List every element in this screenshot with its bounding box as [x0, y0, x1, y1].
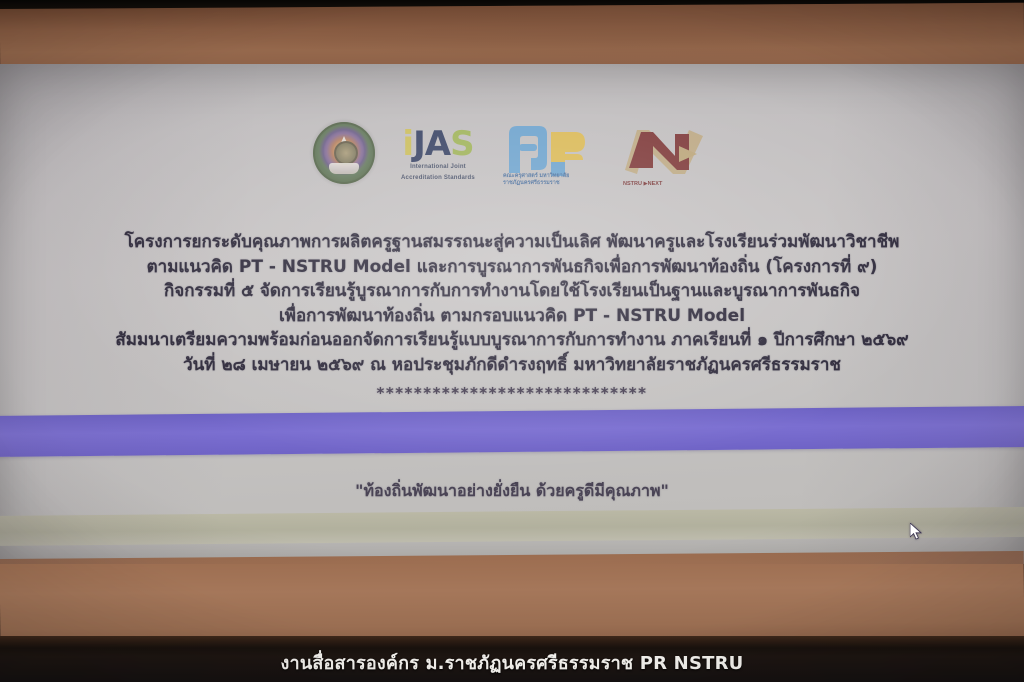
ijas-letter-i: i — [402, 124, 413, 164]
ijas-letter-s: S — [450, 124, 474, 164]
headline-line-4: เพื่อการพัฒนาท้องถิ่น ตามกรอบแนวคิด PT -… — [48, 304, 976, 329]
nstru-university-seal-logo — [313, 122, 375, 184]
accent-band — [0, 406, 1024, 457]
slide-footer-band — [0, 507, 1024, 546]
ft-logo-subtitle: คณะครุศาสตร์ มหาวิทยาลัยราชภัฏนครศรีธรรม… — [503, 173, 573, 186]
nstru-next-logo: NSTRU ▶NEXT — [619, 124, 711, 184]
seal-inner-ring — [334, 141, 358, 165]
n-next-subtitle: NSTRU ▶NEXT — [623, 181, 707, 188]
headline-line-2: ตามแนวคิด PT - NSTRU Model และการบูรณากา… — [48, 255, 976, 280]
ijas-subtitle-line1: International Joint — [401, 164, 475, 172]
projection-screen: iJAS International Joint Accreditation S… — [0, 64, 1024, 564]
ijas-wordmark: iJAS — [401, 127, 475, 161]
ijas-logo: iJAS International Joint Accreditation S… — [401, 127, 475, 184]
slide-content: iJAS International Joint Accreditation S… — [0, 64, 1024, 564]
headline-line-5: สัมมนาเตรียมความพร้อมก่อนออกจัดการเรียนร… — [48, 328, 976, 353]
ijas-subtitle-line2: Accreditation Standards — [401, 175, 475, 183]
wall-band-below-screen — [0, 551, 1024, 647]
slide-headline-block: โครงการยกระดับคุณภาพการผลิตครูฐานสมรรถนะ… — [48, 230, 976, 405]
seal-base — [329, 163, 359, 174]
ijas-letter-a: A — [425, 124, 450, 164]
headline-line-6: วันที่ ๒๘ เมษายน ๒๕๖๙ ณ หอประชุมภักดีดำร… — [48, 353, 976, 378]
headline-separator: ***************************** — [48, 381, 976, 406]
slide-quote: "ท้องถิ่นพัฒนาอย่างยั่งยืน ด้วยครูดีมีคุ… — [0, 479, 1024, 504]
n-next-mark-icon — [619, 124, 711, 184]
mouse-pointer-icon[interactable] — [910, 523, 922, 540]
seal-icon — [313, 122, 375, 184]
logo-row: iJAS International Joint Accreditation S… — [0, 122, 1024, 184]
photo-caption: งานสื่อสารองค์กร ม.ราชภัฏนครศรีธรรมราช P… — [0, 648, 1024, 677]
headline-line-3: กิจกรรมที่ ๕ จัดการเรียนรู้บูรณาการกับกา… — [48, 279, 976, 304]
photo-of-projected-slide: iJAS International Joint Accreditation S… — [0, 0, 1024, 682]
ft-blue-yellow-logo: คณะครุศาสตร์ มหาวิทยาลัยราชภัฏนครศรีธรรม… — [501, 124, 593, 184]
ijas-letter-j: J — [413, 124, 425, 164]
wall-band-above-screen — [0, 3, 1024, 71]
headline-line-1: โครงการยกระดับคุณภาพการผลิตครูฐานสมรรถนะ… — [48, 230, 976, 255]
